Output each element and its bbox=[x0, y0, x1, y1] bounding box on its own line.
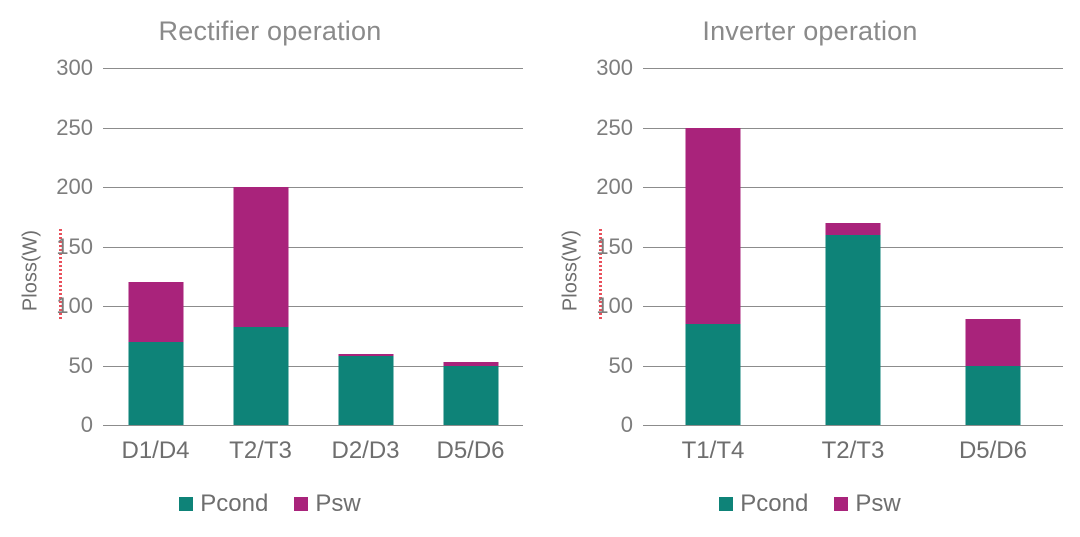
bar-group-d2-d3[interactable]: D2/D3 bbox=[313, 68, 418, 425]
bar-segment-pcond[interactable] bbox=[965, 366, 1020, 426]
y-tick-100: 100 bbox=[596, 293, 633, 319]
bar-segment-psw[interactable] bbox=[685, 128, 740, 324]
x-tick-t2-t3: T2/T3 bbox=[822, 437, 885, 465]
bar-group-t2-t3[interactable]: T2/T3 bbox=[208, 68, 313, 425]
x-tick-d1-d4: D1/D4 bbox=[121, 437, 189, 465]
legend-label-pcond: Pcond bbox=[740, 492, 808, 516]
legend-item-pcond[interactable]: Pcond bbox=[719, 492, 808, 516]
bar-segment-pcond[interactable] bbox=[443, 366, 498, 426]
y-tick-100: 100 bbox=[56, 293, 93, 319]
y-tick-50: 50 bbox=[609, 353, 633, 379]
y-axis-label-group-left: Ploss(W) bbox=[14, 215, 42, 335]
bar-group-d5-d6[interactable]: D5/D6 bbox=[418, 68, 523, 425]
bar-segment-psw[interactable] bbox=[965, 319, 1020, 365]
legend-item-pcond[interactable]: Pcond bbox=[179, 492, 268, 516]
plot-area-rectifier: 300 250 200 150 100 50 0 bbox=[103, 68, 523, 425]
bar-segment-pcond[interactable] bbox=[685, 324, 740, 425]
bar-group-d5-d6[interactable]: D5/D6 bbox=[923, 68, 1063, 425]
x-tick-d2-d3: D2/D3 bbox=[331, 437, 399, 465]
x-tick-d5-d6: D5/D6 bbox=[436, 437, 504, 465]
legend-swatch-pcond-icon bbox=[179, 497, 193, 511]
legend-swatch-psw-icon bbox=[834, 497, 848, 511]
legend-label-psw: Psw bbox=[315, 492, 360, 516]
gridline-0: 0 bbox=[643, 425, 1063, 426]
x-tick-t1-t4: T1/T4 bbox=[682, 437, 745, 465]
bar-d5-d6[interactable] bbox=[965, 319, 1020, 425]
legend-item-psw[interactable]: Psw bbox=[294, 492, 360, 516]
bar-d2-d3[interactable] bbox=[338, 354, 393, 425]
bar-group-t1-t4[interactable]: T1/T4 bbox=[643, 68, 783, 425]
bar-d1-d4[interactable] bbox=[128, 282, 183, 425]
bar-segment-pcond[interactable] bbox=[338, 356, 393, 425]
chart-panel-rectifier: Rectifier operation Ploss(W) 300 250 200… bbox=[0, 0, 540, 537]
legend-item-psw[interactable]: Psw bbox=[834, 492, 900, 516]
bar-t2-t3[interactable] bbox=[233, 187, 288, 425]
y-tick-200: 200 bbox=[56, 174, 93, 200]
plot-area-inverter: 300 250 200 150 100 50 0 bbox=[643, 68, 1063, 425]
y-axis-label-right: Ploss(W) bbox=[560, 212, 583, 330]
y-tick-200: 200 bbox=[596, 174, 633, 200]
legend-inverter: Pcond Psw bbox=[540, 492, 1080, 516]
y-tick-150: 150 bbox=[596, 234, 633, 260]
panel-title-inverter: Inverter operation bbox=[540, 16, 1080, 47]
bar-t2-t3[interactable] bbox=[825, 223, 880, 425]
bar-d5-d6[interactable] bbox=[443, 362, 498, 425]
bar-group-t2-t3[interactable]: T2/T3 bbox=[783, 68, 923, 425]
panel-title-rectifier: Rectifier operation bbox=[0, 16, 540, 47]
bar-segment-pcond[interactable] bbox=[128, 342, 183, 425]
y-axis-label-left: Ploss(W) bbox=[20, 212, 43, 330]
bar-segment-psw[interactable] bbox=[233, 187, 288, 327]
legend-swatch-pcond-icon bbox=[719, 497, 733, 511]
bar-series-rectifier: D1/D4 T2/T3 D2/D3 bbox=[103, 68, 523, 425]
y-tick-300: 300 bbox=[56, 55, 93, 81]
y-tick-300: 300 bbox=[596, 55, 633, 81]
y-tick-0: 0 bbox=[621, 412, 633, 438]
legend-label-psw: Psw bbox=[855, 492, 900, 516]
legend-label-pcond: Pcond bbox=[200, 492, 268, 516]
chart-panel-inverter: Inverter operation Ploss(W) 300 250 200 … bbox=[540, 0, 1080, 537]
gridline-0: 0 bbox=[103, 425, 523, 426]
bar-t1-t4[interactable] bbox=[685, 128, 740, 426]
bar-segment-pcond[interactable] bbox=[825, 235, 880, 425]
legend-rectifier: Pcond Psw bbox=[0, 492, 540, 516]
y-tick-0: 0 bbox=[81, 412, 93, 438]
y-tick-250: 250 bbox=[596, 115, 633, 141]
x-tick-t2-t3: T2/T3 bbox=[229, 437, 292, 465]
bar-segment-psw[interactable] bbox=[825, 223, 880, 235]
y-axis-label-group-right: Ploss(W) bbox=[554, 215, 582, 335]
x-tick-d5-d6: D5/D6 bbox=[959, 437, 1027, 465]
bar-group-d1-d4[interactable]: D1/D4 bbox=[103, 68, 208, 425]
y-tick-50: 50 bbox=[69, 353, 93, 379]
stacked-bar-chart-figure: Rectifier operation Ploss(W) 300 250 200… bbox=[0, 0, 1080, 537]
y-tick-150: 150 bbox=[56, 234, 93, 260]
legend-swatch-psw-icon bbox=[294, 497, 308, 511]
bar-series-inverter: T1/T4 T2/T3 D5/D6 bbox=[643, 68, 1063, 425]
y-tick-250: 250 bbox=[56, 115, 93, 141]
bar-segment-psw[interactable] bbox=[128, 282, 183, 342]
bar-segment-pcond[interactable] bbox=[233, 327, 288, 425]
